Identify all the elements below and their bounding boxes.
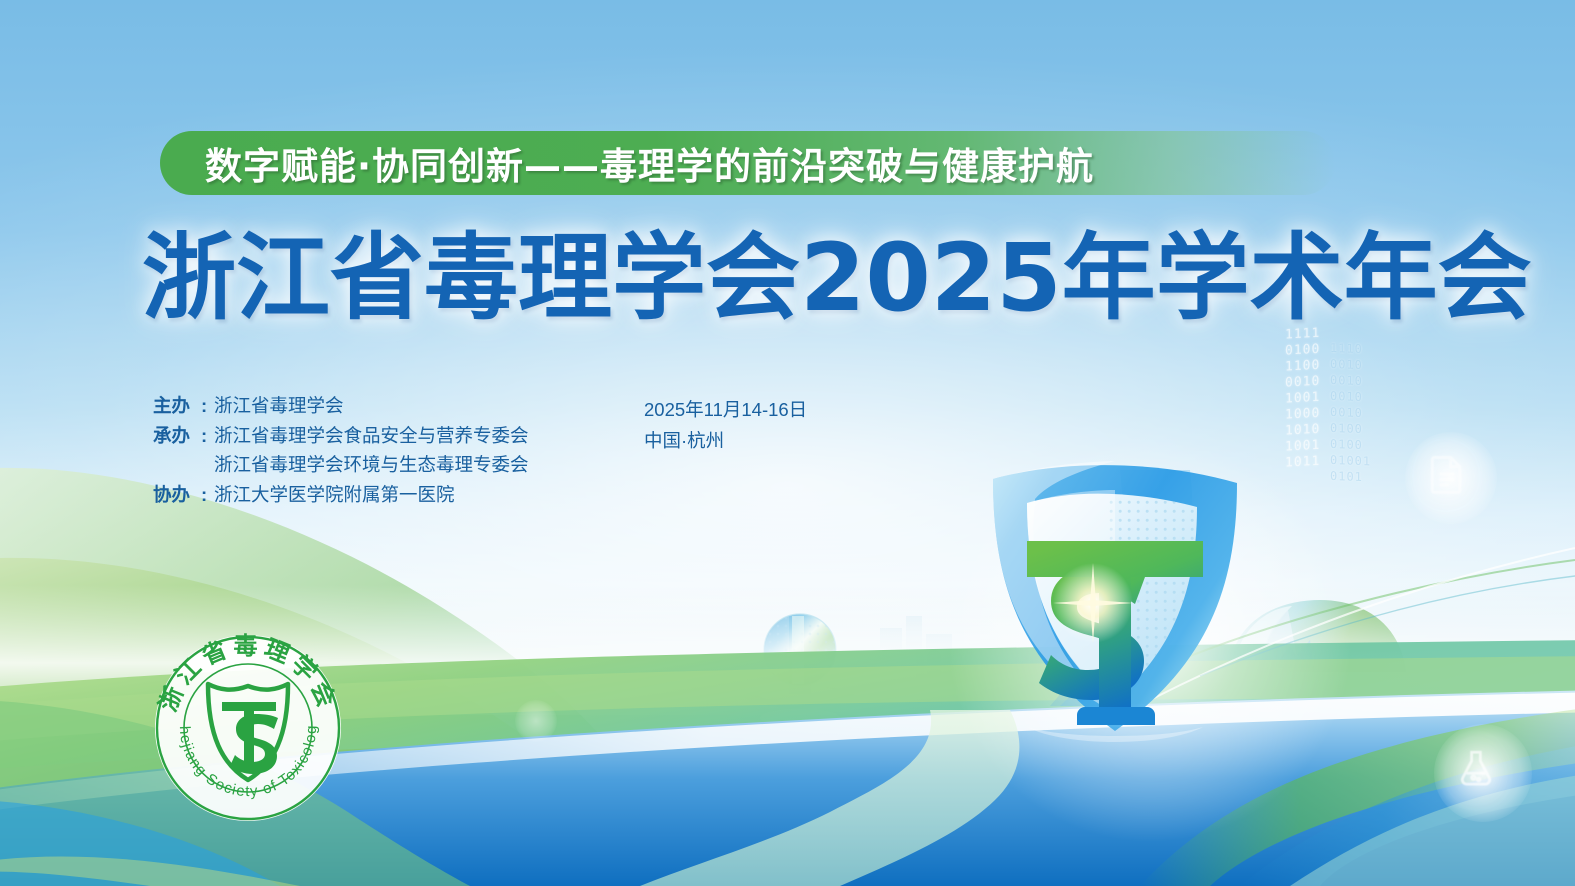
shield-base xyxy=(1077,707,1155,725)
organizer-colon: : xyxy=(201,391,214,421)
ts-shield-emblem xyxy=(965,455,1265,745)
page-title: 浙江省毒理学会2025年学术年会 xyxy=(142,224,1442,334)
organizer-value: 浙江省毒理学会环境与生态毒理专委会 xyxy=(214,450,529,480)
society-logo: 浙江省毒理学会 Zhejiang Society of Toxicology xyxy=(148,628,348,828)
organizer-value: 浙江大学医学院附属第一医院 xyxy=(214,480,455,510)
organizer-label: 协办 xyxy=(153,480,201,510)
small-icon-glow xyxy=(515,700,557,742)
subtitle-banner: 数字赋能·协同创新——毒理学的前沿突破与健康护航 xyxy=(160,131,1335,195)
organizer-info: 主办 : 浙江省毒理学会 承办 : 浙江省毒理学会食品安全与营养专委会 浙江省毒… xyxy=(153,391,529,509)
organizer-colon: : xyxy=(201,480,214,510)
event-location: 中国·杭州 xyxy=(644,425,807,456)
organizer-label: 主办 xyxy=(153,391,201,421)
organizer-value: 浙江省毒理学会 xyxy=(214,391,344,421)
event-meta: 2025年11月14-16日 中国·杭州 xyxy=(644,394,807,456)
left-green-hill xyxy=(0,468,700,886)
organizer-row: 主办 : 浙江省毒理学会 xyxy=(153,391,529,421)
conference-poster: 1111 0100 1100 0010 1001 1000 1010 1001 … xyxy=(0,0,1575,886)
organizer-value: 浙江省毒理学会食品安全与营养专委会 xyxy=(214,421,529,451)
subtitle-text: 数字赋能·协同创新——毒理学的前沿突破与健康护航 xyxy=(205,136,1094,190)
event-date: 2025年11月14-16日 xyxy=(644,394,807,425)
organizer-colon: : xyxy=(201,421,214,451)
organizer-row: 浙江省毒理学会环境与生态毒理专委会 xyxy=(153,450,529,480)
sphere-building xyxy=(745,614,855,727)
organizer-row: 协办 : 浙江大学医学院附属第一医院 xyxy=(153,480,529,510)
flask-icon xyxy=(1455,745,1497,796)
twin-towers xyxy=(911,650,941,680)
document-icon xyxy=(1425,450,1469,503)
left-swoop-yellow xyxy=(0,856,300,886)
organizer-row: 承办 : 浙江省毒理学会食品安全与营养专委会 xyxy=(153,421,529,451)
organizer-label: 承办 xyxy=(153,421,201,451)
